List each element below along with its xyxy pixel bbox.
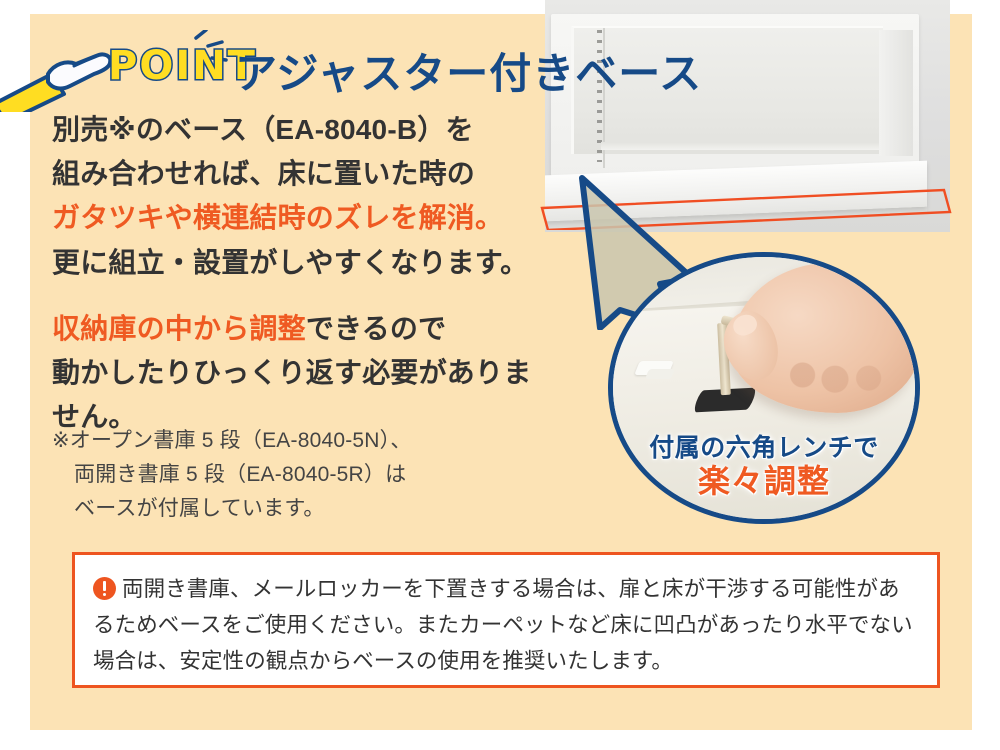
cabinet-bottom-rail [601, 142, 879, 150]
body-line-3-highlight: ガタツキや横連結時のズレを解消。 [52, 196, 532, 240]
body-line-5-rest: できるので [306, 313, 446, 344]
hand-knuckles [781, 349, 901, 401]
body-line-5-highlight: 収納庫の中から調整 [52, 313, 306, 344]
exclamation-circle-icon [93, 577, 116, 600]
footnote-line-2: 両開き書庫 5 段（EA-8040-5R）は [52, 458, 522, 492]
body-line-4: 更に組立・設置がしやすくなります。 [52, 241, 532, 285]
circle-callout: 付属の六角レンチで 楽々調整 [600, 252, 930, 524]
page-title: アジャスター付きベース [235, 40, 702, 101]
body-copy: 別売※のベース（EA-8040-B）を 組み合わせれば、床に置いた時の ガタツキ… [52, 108, 532, 440]
circle-caption-top: 付属の六角レンチで [608, 434, 920, 462]
small-plastic-part-2 [645, 369, 675, 379]
point-badge: POINT [0, 30, 240, 112]
footnote: ※オープン書庫 5 段（EA-8040-5N）、 両開き書庫 5 段（EA-80… [52, 424, 522, 526]
paragraph-spacer [52, 285, 532, 307]
footnote-line-3: ベースが付属しています。 [52, 492, 522, 526]
footnote-line-1: ※オープン書庫 5 段（EA-8040-5N）、 [52, 429, 412, 452]
warning-text-wrap: 両開き書庫、メールロッカーを下置きする場合は、扉と床が干渉する可能性があるためベ… [93, 571, 917, 679]
warning-box: 両開き書庫、メールロッカーを下置きする場合は、扉と床が干渉する可能性があるためベ… [72, 552, 940, 688]
circle-caption: 付属の六角レンチで 楽々調整 [608, 434, 920, 500]
body-line-5: 収納庫の中から調整できるので [52, 307, 532, 351]
body-line-2: 組み合わせれば、床に置いた時の [52, 152, 532, 196]
cabinet-side-panel [879, 30, 913, 156]
circle-caption-bottom: 楽々調整 [608, 464, 920, 500]
body-line-1: 別売※のベース（EA-8040-B）を [52, 108, 532, 152]
warning-text: 両開き書庫、メールロッカーを下置きする場合は、扉と床が干渉する可能性があるためベ… [93, 577, 913, 673]
point-feature-panel: 付属の六角レンチで 楽々調整 POINT アジャスター付きベース 別売※のベース… [0, 0, 1000, 750]
cabinet-photo [545, 0, 950, 232]
